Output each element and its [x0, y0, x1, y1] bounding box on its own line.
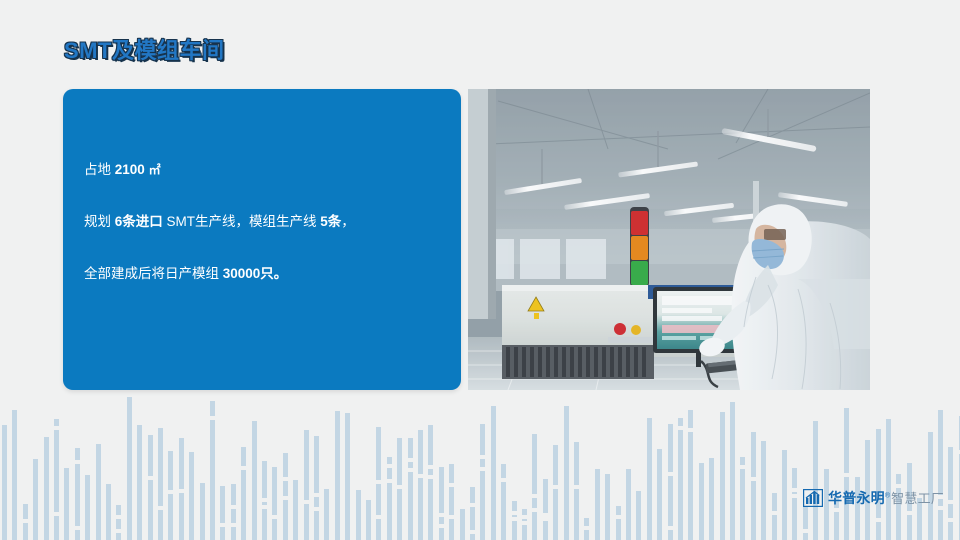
decorative-bar: [709, 458, 714, 540]
decorative-bar-notch: [522, 521, 527, 525]
decorative-bar: [44, 437, 49, 540]
decorative-bar: [928, 432, 933, 540]
decorative-bar: [23, 504, 28, 540]
decorative-bar: [501, 464, 506, 540]
decorative-bar-notch: [428, 475, 433, 479]
registered-trademark-icon: ®: [885, 492, 890, 499]
workshop-photo: HELLER: [468, 89, 870, 390]
decorative-bar-notch: [668, 472, 673, 476]
decorative-bar: [584, 518, 589, 540]
decorative-bar-notch: [792, 488, 797, 492]
decorative-bar: [345, 413, 350, 540]
decorative-bar: [272, 467, 277, 540]
decorative-bar: [324, 489, 329, 540]
decorative-bar: [678, 418, 683, 540]
info-panel: 占地 2100 ㎡规划 6条进口 SMT生产线，模组生产线 5条，全部建成后将日…: [63, 89, 461, 390]
decorative-bar: [304, 430, 309, 540]
decorative-bar: [512, 501, 517, 540]
decorative-bar-notch: [584, 526, 589, 530]
decorative-bar: [158, 428, 163, 540]
decorative-bar: [33, 459, 38, 540]
decorative-bar: [792, 468, 797, 540]
decorative-bar: [740, 457, 745, 540]
decorative-bar-notch: [408, 458, 413, 462]
decorative-bar: [460, 509, 465, 540]
brand-name-text: 华普永明: [828, 490, 885, 506]
decorative-bar-notch: [262, 498, 267, 502]
decorative-bar-notch: [54, 512, 59, 516]
decorative-bar: [64, 468, 69, 540]
decorative-bar-notch: [179, 489, 184, 493]
decorative-bar: [553, 445, 558, 540]
decorative-bar: [85, 475, 90, 540]
decorative-bar: [636, 491, 641, 540]
decorative-bar-notch: [231, 523, 236, 527]
decorative-bar: [148, 435, 153, 540]
info-text-segment: 6条进口: [115, 214, 163, 229]
decorative-bar-notch: [616, 515, 621, 519]
info-text-segment: ，: [341, 214, 355, 229]
decorative-bar: [335, 411, 340, 540]
decorative-bar: [844, 408, 849, 540]
decorative-bar-notch: [751, 477, 756, 481]
decorative-bar-notch: [148, 476, 153, 480]
decorative-bar: [449, 464, 454, 540]
decorative-bar: [231, 484, 236, 540]
decorative-bar-notch: [543, 513, 548, 517]
decorative-bar: [751, 432, 756, 540]
info-text-segment: 全部建成后将日产模组: [84, 266, 223, 281]
decorative-bar-notch: [314, 507, 319, 511]
decorative-bar-notch: [844, 473, 849, 477]
decorative-bar-notch: [283, 477, 288, 481]
decorative-bar-notch: [470, 530, 475, 534]
decorative-bar-notch: [75, 526, 80, 530]
decorative-bar: [96, 444, 101, 540]
info-line-area: 占地 2100 ㎡: [84, 161, 447, 179]
decorative-bar: [699, 463, 704, 540]
decorative-bar: [730, 402, 735, 540]
decorative-bar-notch: [376, 515, 381, 519]
brand-name: 华普永明®: [828, 491, 890, 505]
decorative-bar-notch: [501, 478, 506, 482]
decorative-bar-notch: [418, 474, 423, 478]
decorative-bar: [543, 479, 548, 540]
info-text-segment: 5条: [320, 214, 341, 229]
decorative-bar-notch: [678, 426, 683, 430]
decorative-bar: [293, 480, 298, 540]
decorative-bar: [886, 419, 891, 540]
decorative-bar: [376, 427, 381, 540]
decorative-bar-notch: [439, 513, 444, 517]
decorative-bar-notch: [220, 523, 225, 527]
decorative-bar: [200, 483, 205, 540]
info-line-lines-plan: 规划 6条进口 SMT生产线，模组生产线 5条，: [84, 213, 447, 231]
decorative-bar-notch: [574, 485, 579, 489]
decorative-bar-notch: [116, 529, 121, 533]
decorative-bar: [938, 410, 943, 540]
page-title: SMT及模组车间: [64, 33, 224, 65]
decorative-bar: [605, 474, 610, 540]
decorative-bar-notch: [876, 518, 881, 522]
decorative-bar: [876, 429, 881, 540]
decorative-bar: [428, 425, 433, 540]
decorative-bar-notch: [158, 506, 163, 510]
decorative-bar-notch: [387, 464, 392, 468]
decorative-bar: [720, 412, 725, 540]
decorative-bar-notch: [75, 460, 80, 464]
decorative-bar-notch: [168, 490, 173, 494]
decorative-bar-notch: [740, 465, 745, 469]
info-text-segment: 30000只。: [223, 266, 288, 281]
decorative-bar: [616, 506, 621, 540]
decorative-bar-notch: [907, 511, 912, 515]
decorative-bar-notch: [512, 511, 517, 515]
decorative-bar-notch: [522, 515, 527, 519]
decorative-bar-notch: [532, 494, 537, 498]
decorative-bar-notch: [439, 524, 444, 528]
decorative-bar-notch: [428, 465, 433, 469]
brand-subtitle: 智慧工厂: [891, 492, 944, 505]
info-panel-text-block: 占地 2100 ㎡规划 6条进口 SMT生产线，模组生产线 5条，全部建成后将日…: [84, 161, 447, 284]
decorative-bar-notch: [449, 515, 454, 519]
brand-logo: 华普永明® 智慧工厂: [803, 487, 944, 509]
decorative-bar: [480, 424, 485, 540]
decorative-bar: [418, 430, 423, 540]
info-line-daily-output: 全部建成后将日产模组 30000只。: [84, 265, 447, 283]
decorative-bar-notch: [470, 503, 475, 507]
slide-root: SMT及模组车间 占地 2100 ㎡规划 6条进口 SMT生产线，模组生产线 5…: [0, 0, 960, 540]
decorative-bar: [210, 401, 215, 540]
decorative-bar: [366, 500, 371, 540]
decorative-bar: [532, 434, 537, 540]
decorative-bar: [356, 490, 361, 540]
decorative-bar: [668, 424, 673, 540]
decorative-bar-notch: [688, 428, 693, 432]
decorative-bar: [106, 484, 111, 540]
decorative-bar: [408, 438, 413, 540]
decorative-bar-notch: [387, 479, 392, 483]
decorative-bar: [283, 453, 288, 540]
decorative-bar: [626, 469, 631, 540]
decorative-bar-notch: [283, 496, 288, 500]
decorative-bar: [168, 451, 173, 540]
decorative-bar: [397, 438, 402, 540]
decorative-bar-notch: [397, 485, 402, 489]
decorative-bar: [137, 425, 142, 540]
decorative-bar-notch: [668, 526, 673, 530]
decorative-bar: [439, 467, 444, 540]
decorative-bar-notch: [314, 493, 319, 497]
decorative-bar: [522, 509, 527, 540]
decorative-bar: [948, 447, 953, 540]
decorative-bar-notch: [304, 500, 309, 504]
bar-chart-mark-icon: [803, 489, 823, 507]
decorative-bar: [189, 452, 194, 540]
info-text-segment: SMT生产线，模组生产线: [163, 214, 321, 229]
decorative-bar: [782, 450, 787, 540]
decorative-bar: [647, 418, 652, 540]
decorative-bar: [241, 447, 246, 540]
decorative-bar: [12, 410, 17, 540]
decorative-bar-notch: [772, 511, 777, 515]
decorative-bar-notch: [408, 468, 413, 472]
decorative-bar-notch: [23, 519, 28, 523]
decorative-bar-notch: [241, 466, 246, 470]
decorative-bar-notch: [948, 500, 953, 504]
decorative-bar-pattern: [0, 393, 960, 540]
decorative-bar: [688, 410, 693, 540]
decorative-bar: [54, 419, 59, 540]
decorative-bar-notch: [948, 518, 953, 522]
info-text-segment: 占地: [84, 162, 115, 177]
decorative-bar: [262, 461, 267, 540]
decorative-bar-notch: [532, 508, 537, 512]
info-text-segment: 规划: [84, 214, 115, 229]
decorative-bar-notch: [480, 455, 485, 459]
decorative-bar-notch: [792, 494, 797, 498]
decorative-bar-notch: [262, 505, 267, 509]
decorative-bar: [127, 397, 132, 540]
decorative-bar: [803, 506, 808, 540]
decorative-bar-notch: [512, 517, 517, 521]
decorative-bar-notch: [803, 529, 808, 533]
decorative-bar-notch: [553, 485, 558, 489]
decorative-bar: [761, 441, 766, 540]
decorative-bar: [657, 449, 662, 540]
decorative-bar-notch: [210, 416, 215, 420]
decorative-bar: [813, 421, 818, 540]
decorative-bar: [2, 425, 7, 540]
decorative-bar-notch: [231, 505, 236, 509]
decorative-bar: [564, 406, 569, 540]
decorative-bar: [574, 442, 579, 540]
decorative-bar: [772, 493, 777, 540]
decorative-bar-notch: [272, 515, 277, 519]
decorative-bar: [595, 469, 600, 540]
info-text-segment: ㎡: [149, 163, 161, 177]
decorative-bar: [314, 436, 319, 540]
decorative-bar-notch: [480, 467, 485, 471]
decorative-bar: [491, 406, 496, 540]
decorative-bar-notch: [54, 426, 59, 430]
decorative-bar: [252, 421, 257, 540]
decorative-bar: [387, 457, 392, 540]
decorative-bar: [179, 438, 184, 540]
decorative-bar: [220, 486, 225, 540]
decorative-bar: [470, 487, 475, 540]
decorative-bar: [116, 505, 121, 540]
decorative-bar-notch: [449, 483, 454, 487]
decorative-bar-notch: [543, 517, 548, 521]
decorative-bar: [75, 448, 80, 540]
info-text-segment: 2100: [115, 162, 149, 177]
decorative-bar-notch: [376, 480, 381, 484]
decorative-bar-notch: [116, 515, 121, 519]
